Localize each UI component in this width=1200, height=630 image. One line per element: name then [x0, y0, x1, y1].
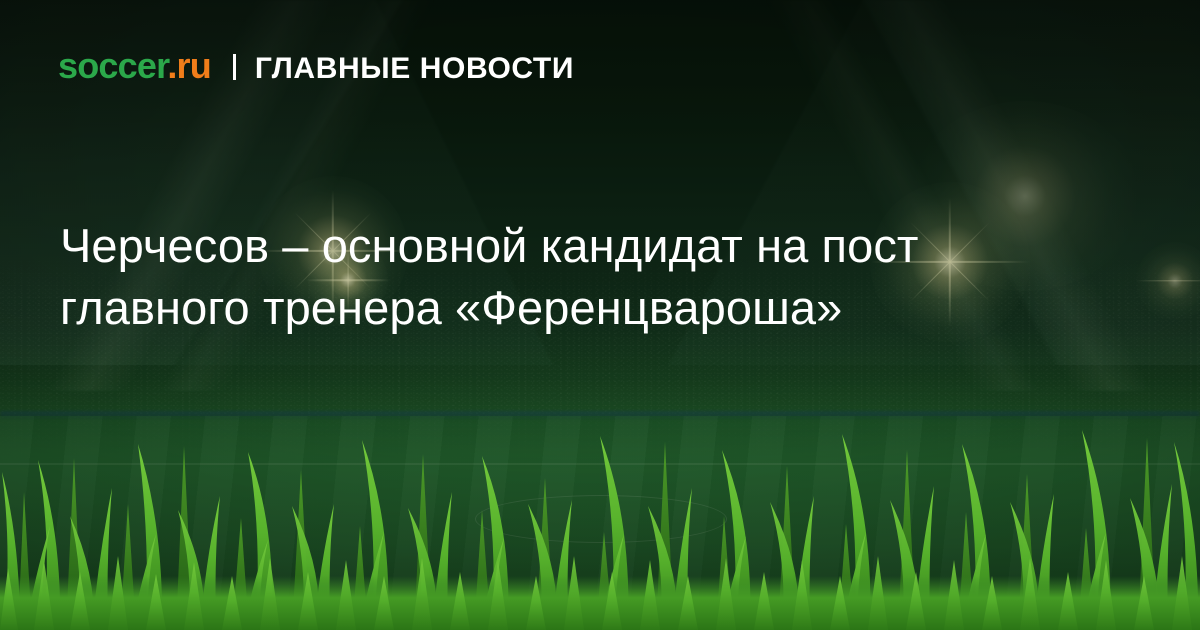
card-header: soccer.ru ГЛАВНЫЕ НОВОСТИ	[58, 48, 574, 84]
site-logo-name: soccer	[58, 45, 167, 86]
header-divider	[233, 54, 236, 80]
news-share-card: soccer.ru ГЛАВНЫЕ НОВОСТИ Черчесов – осн…	[0, 0, 1200, 630]
background-pitch-barrier	[0, 411, 1200, 419]
site-logo[interactable]: soccer.ru	[58, 48, 211, 84]
article-headline: Черчесов – основной кандидат на пост гла…	[60, 215, 1060, 339]
section-label: ГЛАВНЫЕ НОВОСТИ	[255, 54, 574, 84]
pitch-centre-circle	[475, 495, 727, 543]
pitch-halfway-line	[0, 463, 1200, 465]
site-logo-tld: .ru	[167, 45, 211, 86]
lens-flare-center-low	[1130, 236, 1200, 326]
